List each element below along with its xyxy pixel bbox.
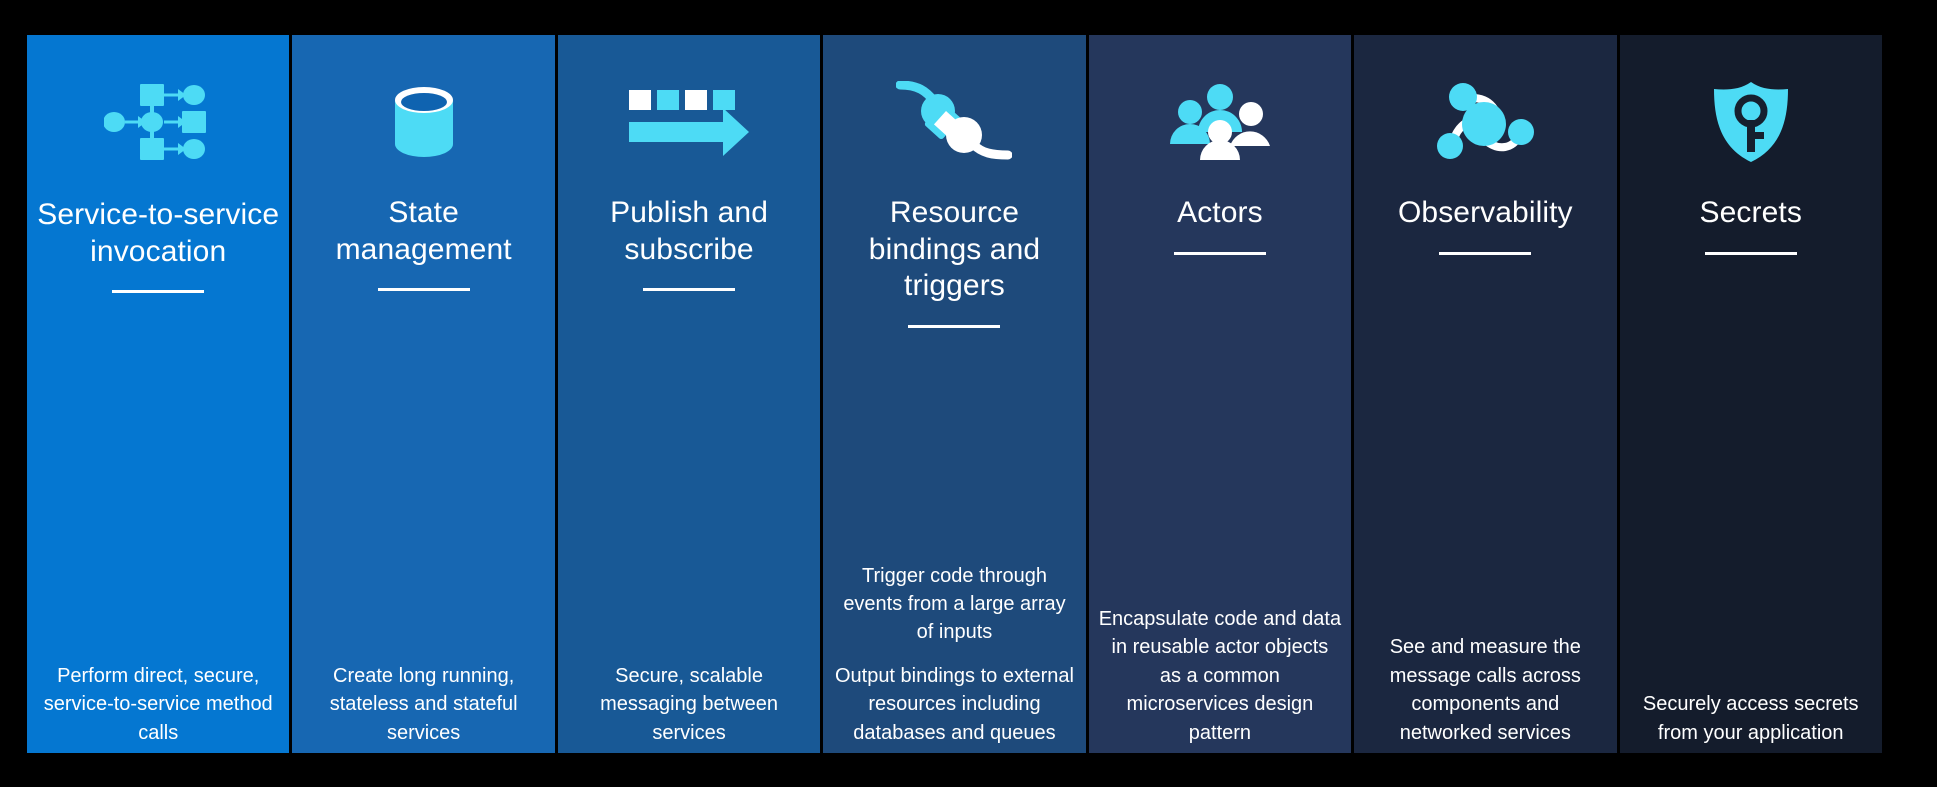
title-divider-wrap [1630, 232, 1872, 691]
card-secrets[interactable]: Secrets Securely access secrets from you… [1620, 35, 1882, 753]
card-title: Actors [1099, 195, 1341, 232]
card-description-paragraph: Secure, scalable messaging between servi… [568, 662, 810, 747]
card-publish-and-subscribe[interactable]: Publish and subscribe Secure, scalable m… [558, 35, 820, 753]
card-title: Publish and subscribe [568, 195, 810, 268]
card-description: Trigger code through events from a large… [833, 562, 1075, 753]
card-title: Secrets [1630, 195, 1872, 232]
card-title: Resource bindings and triggers [833, 195, 1075, 305]
title-divider-wrap [1364, 232, 1606, 634]
card-title: Observability [1364, 195, 1606, 232]
title-divider [112, 290, 204, 293]
card-title: Service-to-service invocation [37, 197, 279, 270]
network-nodes-icon [1364, 35, 1606, 195]
title-divider [908, 325, 1000, 328]
card-description-paragraph: Encapsulate code and data in reusable ac… [1099, 605, 1341, 747]
card-description-paragraph: See and measure the message calls across… [1364, 633, 1606, 747]
card-description: See and measure the message calls across… [1364, 633, 1606, 753]
card-description-paragraph: Output bindings to external resources in… [833, 662, 1075, 747]
title-divider-wrap [302, 268, 544, 662]
message-queue-arrow-icon [568, 35, 810, 195]
card-service-to-service-invocation[interactable]: Service-to-service invocation Perform di… [27, 35, 289, 753]
database-cylinder-icon [302, 35, 544, 195]
title-divider [1174, 252, 1266, 255]
service-invocation-icon [37, 35, 279, 195]
card-description: Encapsulate code and data in reusable ac… [1099, 605, 1341, 753]
card-description-paragraph: Create long running, stateless and state… [302, 662, 544, 747]
title-divider [643, 288, 735, 291]
card-state-management[interactable]: State management Create long running, st… [292, 35, 554, 753]
card-description: Secure, scalable messaging between servi… [568, 662, 810, 753]
people-group-icon [1099, 35, 1341, 195]
title-divider-wrap [568, 268, 810, 662]
shield-key-icon [1630, 35, 1872, 195]
building-blocks-board: Service-to-service invocation Perform di… [27, 35, 1882, 753]
title-divider [1439, 252, 1531, 255]
title-divider-wrap [37, 270, 279, 662]
card-description-paragraph: Trigger code through events from a large… [833, 562, 1075, 647]
card-description-paragraph: Perform direct, secure, service-to-servi… [37, 662, 279, 747]
card-description-paragraph: Securely access secrets from your applic… [1630, 690, 1872, 747]
plug-connector-icon [833, 35, 1075, 195]
title-divider-wrap [833, 305, 1075, 562]
card-actors[interactable]: Actors Encapsulate code and data in reus… [1089, 35, 1351, 753]
title-divider [378, 288, 470, 291]
card-description: Create long running, stateless and state… [302, 662, 544, 753]
card-resource-bindings-and-triggers[interactable]: Resource bindings and triggers Trigger c… [823, 35, 1085, 753]
card-description: Perform direct, secure, service-to-servi… [37, 662, 279, 753]
card-description: Securely access secrets from your applic… [1630, 690, 1872, 753]
title-divider [1705, 252, 1797, 255]
card-title: State management [302, 195, 544, 268]
card-observability[interactable]: Observability See and measure the messag… [1354, 35, 1616, 753]
title-divider-wrap [1099, 232, 1341, 605]
